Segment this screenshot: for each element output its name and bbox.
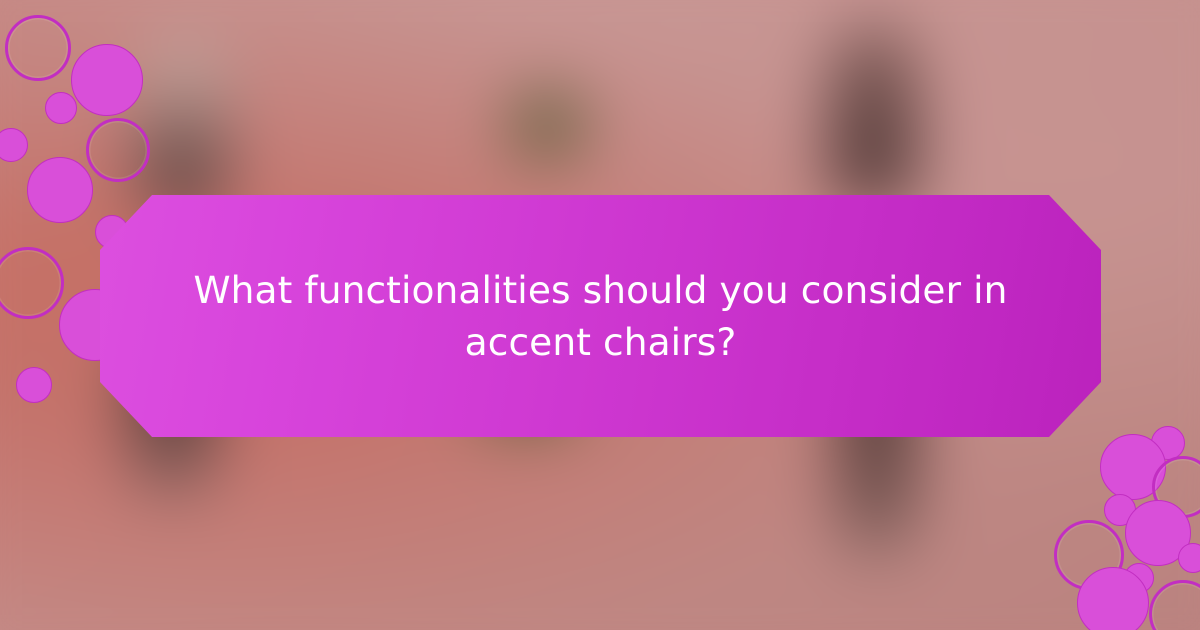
decorative-circle — [0, 247, 64, 319]
social-card: What functionalities should you consider… — [0, 0, 1200, 630]
decorative-circle — [0, 128, 28, 162]
decorative-circle — [27, 157, 93, 223]
decorative-circle — [1149, 580, 1200, 630]
headline-text: What functionalities should you consider… — [183, 264, 1019, 368]
decorative-circle — [1077, 567, 1149, 630]
headline-banner: What functionalities should you consider… — [100, 195, 1101, 437]
decorative-circle — [5, 15, 71, 81]
decorative-circle — [16, 367, 52, 403]
background-chair-back-right — [830, 22, 916, 202]
decorative-circle — [86, 118, 150, 182]
decorative-circle — [45, 92, 77, 124]
decorative-circle — [71, 44, 143, 116]
background-plant-upper — [506, 90, 592, 166]
decorative-circle — [1178, 543, 1200, 573]
